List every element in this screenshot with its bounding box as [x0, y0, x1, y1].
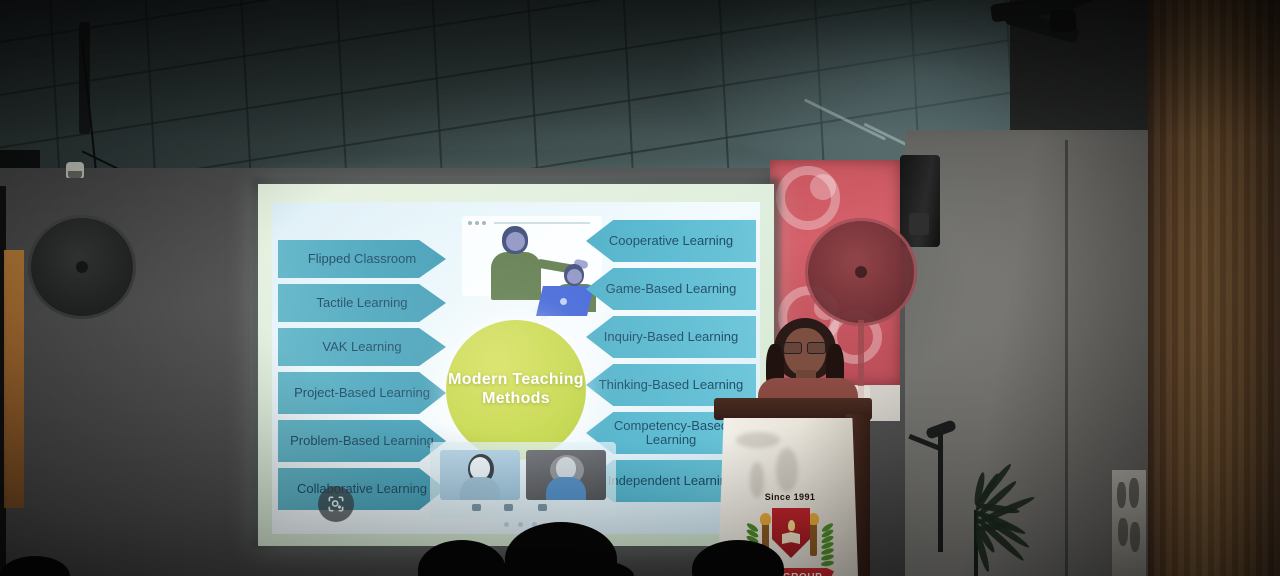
chevron-left-6[interactable]: Collaborative Learning [278, 468, 446, 510]
chevron-right-2[interactable]: Game-Based Learning [586, 268, 756, 310]
participants-icon [538, 504, 547, 511]
chevron-left-4[interactable]: Project-Based Learning [278, 372, 446, 414]
potted-plant [930, 450, 1050, 576]
chevron-left-5[interactable]: Problem-Based Learning [278, 420, 446, 462]
teacher-body [491, 252, 541, 300]
chevron-left-3[interactable]: VAK Learning [278, 328, 446, 366]
ceiling-fan [995, 0, 1145, 66]
wall-seam [1065, 140, 1068, 576]
photo-scene: Flipped Classroom Tactile Learning VAK L… [0, 0, 1280, 576]
chevron-left-1[interactable]: Flipped Classroom [278, 240, 446, 278]
center-circle-label: Modern Teaching Methods [446, 371, 586, 408]
chevron-right-1-label: Cooperative Learning [603, 234, 739, 248]
chevron-left-2-label: Tactile Learning [310, 296, 413, 310]
wall-fan-right [805, 218, 917, 326]
lens-capture-icon[interactable] [318, 486, 354, 522]
crest-since-label: Since 1991 [744, 492, 836, 502]
projection-screen: Flipped Classroom Tactile Learning VAK L… [258, 184, 774, 546]
wall-poster [1112, 470, 1146, 576]
door-frame-light [4, 250, 24, 508]
chevron-right-2-label: Game-Based Learning [600, 282, 743, 296]
chevron-left-6-label: Collaborative Learning [291, 482, 433, 496]
chevron-left-1-label: Flipped Classroom [302, 252, 422, 266]
illustration-video-call [430, 442, 620, 534]
teacher-face [506, 232, 525, 251]
chevron-left-2[interactable]: Tactile Learning [278, 284, 446, 322]
ceiling [0, 0, 1010, 185]
carousel-dot [504, 522, 509, 527]
chevron-right-1[interactable]: Cooperative Learning [586, 220, 756, 262]
wall-speaker [900, 155, 940, 247]
wreath-right [814, 522, 836, 568]
chevron-left-3-label: VAK Learning [316, 340, 407, 354]
laptop-graphic [536, 286, 594, 316]
carousel-dot [518, 522, 523, 527]
video-tile-participant-1 [440, 450, 520, 500]
chevron-right-3-label: Inquiry-Based Learning [598, 330, 744, 344]
torch-right [810, 522, 817, 556]
smoke-detector [66, 162, 84, 178]
chevron-left-5-label: Problem-Based Learning [284, 434, 440, 448]
phone-icon [504, 504, 513, 511]
illustration-teacher-student [436, 212, 608, 324]
student-face [567, 269, 582, 284]
glasses-icon [783, 342, 827, 352]
slide-canvas: Flipped Classroom Tactile Learning VAK L… [272, 202, 760, 534]
crest-flame [788, 520, 795, 531]
chevron-left-4-label: Project-Based Learning [288, 386, 436, 400]
wooden-pillar [1148, 0, 1280, 576]
video-camera-icon [472, 504, 481, 511]
center-circle: Modern Teaching Methods [446, 320, 586, 460]
chevron-right-3[interactable]: Inquiry-Based Learning [586, 316, 756, 358]
chevron-right-4-label: Thinking-Based Learning [593, 378, 750, 392]
wall-fan-left [28, 215, 136, 319]
video-tile-participant-2 [526, 450, 606, 500]
